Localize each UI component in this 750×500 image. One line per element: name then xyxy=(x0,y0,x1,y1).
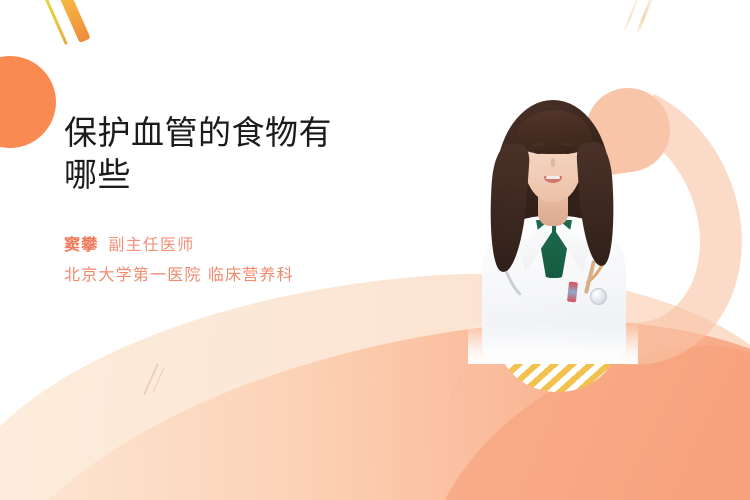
text-block: 保护血管的食物有哪些 窦攀副主任医师 北京大学第一医院 临床营养科 xyxy=(64,112,424,290)
video-cover-slide: 保护血管的食物有哪些 窦攀副主任医师 北京大学第一医院 临床营养科 xyxy=(0,0,750,500)
stethoscope-bell-icon xyxy=(590,288,607,305)
page-title-line-2: 哪些 xyxy=(64,155,131,194)
teeth xyxy=(546,176,560,179)
doctor-portrait xyxy=(468,92,638,360)
presenter-affiliation: 北京大学第一医院 临床营养科 xyxy=(64,260,424,290)
eye-right xyxy=(563,150,572,154)
presenter-role: 副主任医师 xyxy=(108,235,194,254)
presenter-name: 窦攀 xyxy=(64,235,98,254)
presenter-info: 窦攀副主任医师 北京大学第一医院 临床营养科 xyxy=(64,230,424,289)
portrait-fade xyxy=(468,322,638,364)
nose xyxy=(551,158,555,167)
presenter-name-role: 窦攀副主任医师 xyxy=(64,230,424,260)
page-title-line-1: 保护血管的食物有 xyxy=(64,113,332,152)
page-title: 保护血管的食物有哪些 xyxy=(64,112,424,196)
eye-left xyxy=(534,150,543,154)
